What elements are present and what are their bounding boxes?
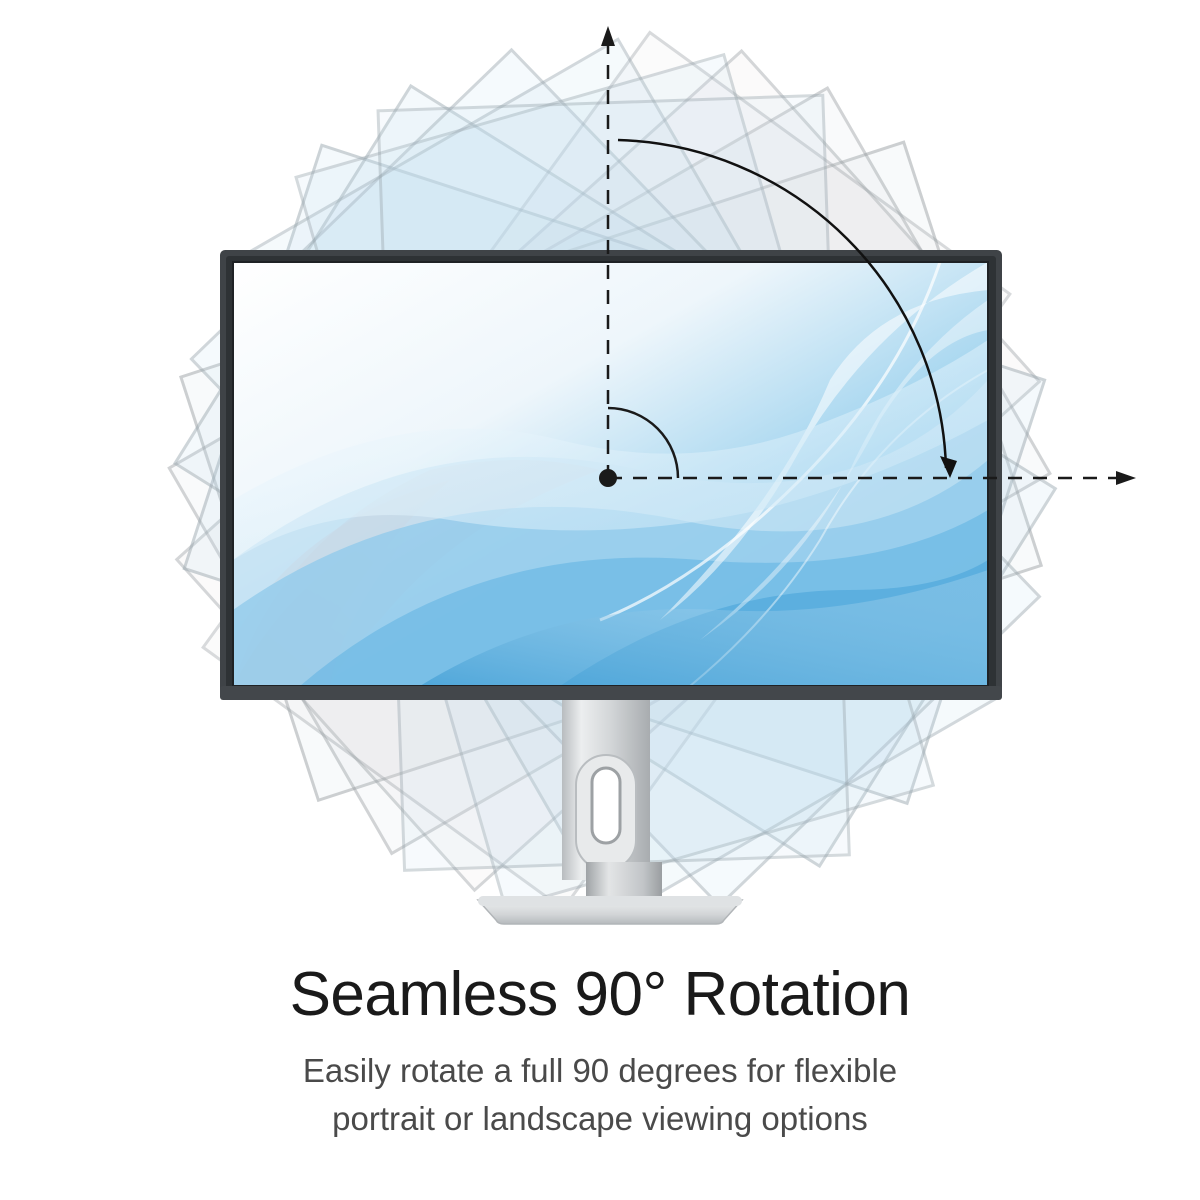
horizontal-axis-arrowhead (1116, 471, 1136, 485)
page-title: Seamless 90° Rotation (0, 950, 1200, 1027)
vertical-axis-arrowhead (601, 26, 615, 46)
rotation-pivot-point (599, 469, 617, 487)
page-subtitle-line-2: portrait or landscape viewing options (0, 1095, 1200, 1143)
page-subtitle: Easily rotate a full 90 degrees for flex… (0, 1027, 1200, 1143)
monitor-rotation-illustration (0, 0, 1200, 950)
rotation-diagram-svg (0, 0, 1200, 950)
caption-block: Seamless 90° Rotation Easily rotate a fu… (0, 950, 1200, 1143)
page-subtitle-line-1: Easily rotate a full 90 degrees for flex… (0, 1047, 1200, 1095)
page-root: Seamless 90° Rotation Easily rotate a fu… (0, 0, 1200, 1200)
